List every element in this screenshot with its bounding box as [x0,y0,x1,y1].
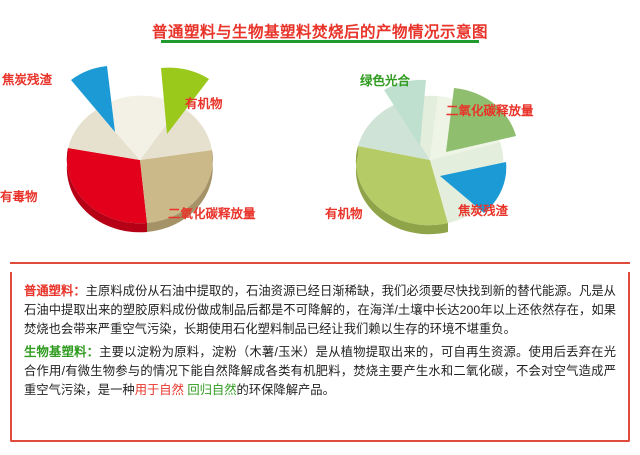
slice-toxic [67,148,147,223]
paragraph-bio-plastic: 生物基塑料：主要以淀粉为原料，淀粉（木薯/玉米）是从植物提取出来的，可自再生资源… [24,343,616,400]
label-coal-residue-left: 焦炭残渣 [2,69,52,88]
paragraph-ordinary-lead: 普通塑料： [24,284,86,298]
section-divider [10,262,630,264]
paragraph-bio-highlight-2: 回归自然 [187,383,236,397]
label-co2-left: 二氧化碳释放量 [168,203,256,222]
page-root: 普通塑料与生物基塑料焚烧后的产物情况示意图 [0,0,640,455]
label-toxic-left: 有毒物 [0,186,38,205]
description-panel: 普通塑料：主原料成份从石油中提取的，石油资源已经日渐稀缺，我们必须要尽快找到新的… [10,272,630,442]
paragraph-ordinary-body: 主原料成份从石油中提取的，石油资源已经日渐稀缺，我们必须要尽快找到新的替代能源。… [24,284,616,336]
paragraph-bio-body-b: 的环保降解产品。 [237,383,335,397]
label-organic-left: 有机物 [185,93,223,112]
label-organic-right: 有机物 [325,203,363,222]
pie-chart-bio-plastic: 绿色光合 二氧化碳释放量 焦炭残渣 有机物 [330,60,540,250]
slice-co2-exploded [446,88,516,152]
label-coal-residue-right: 焦炭残渣 [458,200,508,219]
pie-chart-ordinary-plastic: 焦炭残渣 有机物 二氧化碳释放量 有毒物 [35,60,245,250]
paragraph-bio-highlight-1: 用于自然 [135,383,184,397]
charts-container: 焦炭残渣 有机物 二氧化碳释放量 有毒物 [0,52,640,252]
paragraph-ordinary-plastic: 普通塑料：主原料成份从石油中提取的，石油资源已经日渐稀缺，我们必须要尽快找到新的… [24,282,616,339]
paragraph-bio-lead: 生物基塑料： [24,345,99,359]
label-photosynthesis-right: 绿色光合 [360,70,410,89]
title-underline [161,40,479,43]
label-co2-right: 二氧化碳释放量 [446,100,534,119]
